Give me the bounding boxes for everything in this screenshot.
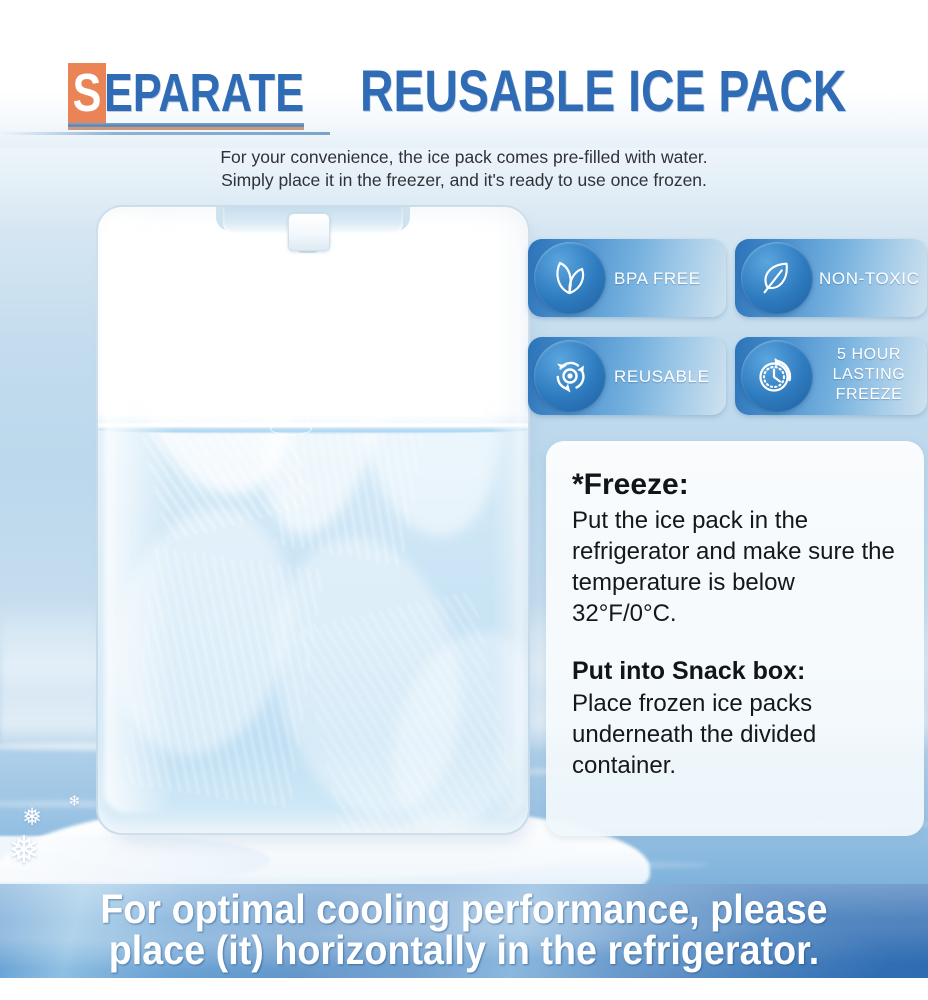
title-word-reusable-ice-pack: REUSABLE ICE PACK xyxy=(360,62,846,122)
header: S EPARATE REUSABLE ICE PACK xyxy=(0,0,928,150)
bottom-white-strip xyxy=(0,978,928,1000)
badge-label-non-toxic: NON-TOXIC xyxy=(819,268,919,289)
leaf-icon xyxy=(741,242,813,314)
ice-pack-gloss-right xyxy=(490,213,524,819)
subtitle-line-1: For your convenience, the ice pack comes… xyxy=(0,146,928,169)
bottom-banner: For optimal cooling performance, please … xyxy=(0,884,928,978)
badge-non-toxic[interactable]: NON-TOXIC xyxy=(735,239,927,317)
page-title: S EPARATE REUSABLE ICE PACK xyxy=(68,62,928,125)
feature-badges: BPA FREE NON-TOXIC xyxy=(528,239,924,425)
badge-lasting-freeze[interactable]: 5 HOUR LASTING FREEZE xyxy=(735,337,927,415)
banner-text: For optimal cooling performance, please … xyxy=(0,889,928,971)
ice-pack-gloss-left xyxy=(104,213,174,813)
water-bubble xyxy=(270,423,312,435)
badge-lasting-line-1: 5 HOUR xyxy=(817,345,921,365)
title-underline xyxy=(68,123,304,130)
snowflake-icon: ❅ xyxy=(22,806,42,830)
clock-arrow-icon xyxy=(741,340,813,412)
frost-fern-pattern xyxy=(297,591,519,835)
snowflake-icon: ❅ xyxy=(8,832,40,870)
freeze-heading: *Freeze: xyxy=(572,467,900,503)
snackbox-heading: Put into Snack box: xyxy=(572,655,900,687)
badge-reusable[interactable]: REUSABLE xyxy=(528,337,726,415)
freeze-body: Put the ice pack in the refrigerator and… xyxy=(572,505,900,629)
title-underline-secondary xyxy=(0,132,330,135)
badge-lasting-line-2: LASTING xyxy=(817,365,921,385)
header-subtitle: For your convenience, the ice pack comes… xyxy=(0,146,928,192)
recycle-icon xyxy=(534,340,606,412)
ice-pack-cap xyxy=(288,213,330,251)
banner-line-2: place (it) horizontally in the refrigera… xyxy=(37,930,891,971)
badge-bpa-free[interactable]: BPA FREE xyxy=(528,239,726,317)
snowflake-icon: ❄ xyxy=(68,794,81,809)
banner-line-1: For optimal cooling performance, please xyxy=(37,889,891,930)
badge-lasting-line-3: FREEZE xyxy=(817,385,921,405)
title-highlight-letter: S xyxy=(73,65,102,121)
snackbox-body: Place frozen ice packs underneath the di… xyxy=(572,688,900,781)
badge-label-lasting-freeze: 5 HOUR LASTING FREEZE xyxy=(817,345,921,405)
badge-label-bpa-free: BPA FREE xyxy=(614,268,701,289)
ice-pack-image xyxy=(96,205,536,845)
two-leaves-icon xyxy=(534,242,606,314)
badge-label-reusable: REUSABLE xyxy=(614,366,710,387)
title-word-separate: EPARATE xyxy=(104,65,304,121)
instructions-card: *Freeze: Put the ice pack in the refrige… xyxy=(546,441,924,836)
ice-pack-body xyxy=(96,205,530,835)
subtitle-line-2: Simply place it in the freezer, and it's… xyxy=(0,169,928,192)
product-infographic: S EPARATE REUSABLE ICE PACK For your con… xyxy=(0,0,928,1000)
title-highlight-block: S xyxy=(68,63,106,125)
